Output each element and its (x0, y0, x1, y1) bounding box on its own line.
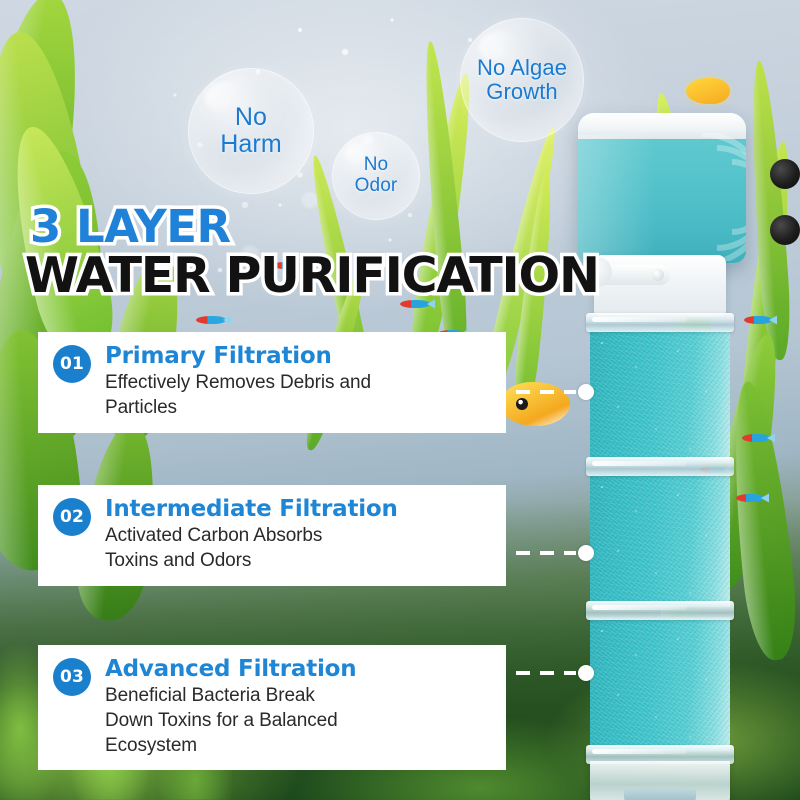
chamber-divider-1-2 (586, 457, 734, 476)
filter-chamber-2 (590, 473, 730, 607)
headline-line-1: 3 LAYER (30, 205, 599, 249)
poster-canvas: No Harm No Odor No Algae Growth (0, 0, 800, 800)
filter-chamber-3 (590, 617, 730, 751)
pump-motor-head (578, 113, 746, 263)
callout-label-no-odor: No Odor (355, 155, 398, 196)
filter-base (590, 761, 730, 800)
feature-description-02: Activated Carbon Absorbs Toxins and Odor… (105, 524, 398, 573)
feature-title-01: Primary Filtration (105, 343, 371, 369)
sponge-texture-1 (590, 329, 730, 463)
feature-card-03: 03 Advanced Filtration Beneficial Bacter… (38, 645, 506, 770)
headline-block: 3 LAYER WATER PURIFICATION (30, 205, 599, 300)
feature-badge-02: 02 (53, 498, 91, 536)
feature-card-01: 01 Primary Filtration Effectively Remove… (38, 332, 506, 433)
callout-label-no-algae-growth: No Algae Growth (477, 56, 567, 104)
feature-description-03: Beneficial Bacteria Break Down Toxins fo… (105, 684, 356, 758)
pump-arc-ridges (590, 133, 746, 261)
angelfish-mid-eye (516, 398, 528, 410)
suction-cup-upper (770, 159, 800, 189)
feature-description-01: Effectively Removes Debris and Particles (105, 371, 371, 420)
connector-dot-3 (578, 665, 594, 681)
feature-card-02: 02 Intermediate Filtration Activated Car… (38, 485, 506, 586)
sponge-texture-2 (590, 473, 730, 607)
connector-dot-2 (578, 545, 594, 561)
connector-dot-1 (578, 384, 594, 400)
base-feet (624, 789, 696, 800)
chamber-divider-top (586, 313, 734, 332)
feature-title-02: Intermediate Filtration (105, 496, 398, 522)
chamber-divider-2-3 (586, 601, 734, 620)
callout-label-no-harm: No Harm (220, 104, 282, 158)
pump-outlet-neck (594, 255, 726, 317)
filter-chamber-1 (590, 329, 730, 463)
feature-badge-01: 01 (53, 345, 91, 383)
callout-bubble-no-harm: No Harm (188, 68, 314, 194)
angelfish-top (686, 78, 730, 104)
suction-cup-lower (770, 215, 800, 245)
headline-line-2: WATER PURIFICATION (25, 251, 599, 300)
feature-title-03: Advanced Filtration (105, 656, 356, 682)
outlet-nozzle (652, 269, 664, 281)
sponge-texture-3 (590, 617, 730, 751)
feature-badge-03: 03 (53, 658, 91, 696)
